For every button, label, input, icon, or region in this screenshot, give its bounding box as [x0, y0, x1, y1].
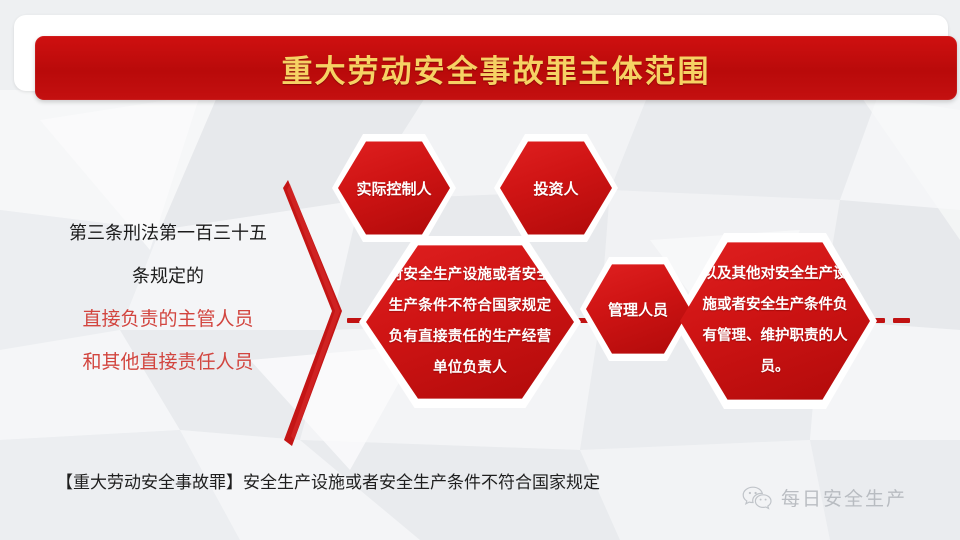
connector-dash-right-2: [893, 318, 910, 323]
left-line-3-emphasis: 直接负责的主管人员: [42, 298, 294, 341]
hex-label-others: 以及其他对安全生产设施或者安全生产条件负有管理、维护职责的人员。: [702, 259, 848, 383]
slide-canvas: 重大劳动安全事故罪主体范围 第三条刑法第一百三十五 条规定的 直接负责的主管人员…: [0, 0, 960, 540]
watermark: 每日安全生产: [742, 484, 907, 511]
left-line-4-emphasis: 和其他直接责任人员: [42, 341, 294, 384]
left-line-1: 第三条刑法第一百三十五: [42, 212, 294, 255]
hex-label-core-responsible: 对安全生产设施或者安全生产条件不符合国家规定负有直接责任的生产经营单位负责人: [384, 260, 556, 384]
watermark-text: 每日安全生产: [781, 484, 907, 511]
chevron-right-icon: [282, 178, 348, 448]
title-banner-frame: 重大劳动安全事故罪主体范围: [14, 15, 948, 91]
left-line-2: 条规定的: [42, 255, 294, 298]
hex-label-investor: 投资人: [533, 178, 578, 199]
wechat-icon: [742, 485, 772, 511]
footer-caption: 【重大劳动安全事故罪】安全生产设施或者安全生产条件不符合国家规定: [56, 468, 600, 493]
hex-label-manager: 管理人员: [608, 299, 668, 320]
left-description-block: 第三条刑法第一百三十五 条规定的 直接负责的主管人员 和其他直接责任人员: [42, 212, 294, 384]
title-banner: 重大劳动安全事故罪主体范围: [35, 36, 957, 100]
page-title: 重大劳动安全事故罪主体范围: [282, 46, 711, 91]
hex-label-actual-controller: 实际控制人: [356, 178, 431, 199]
